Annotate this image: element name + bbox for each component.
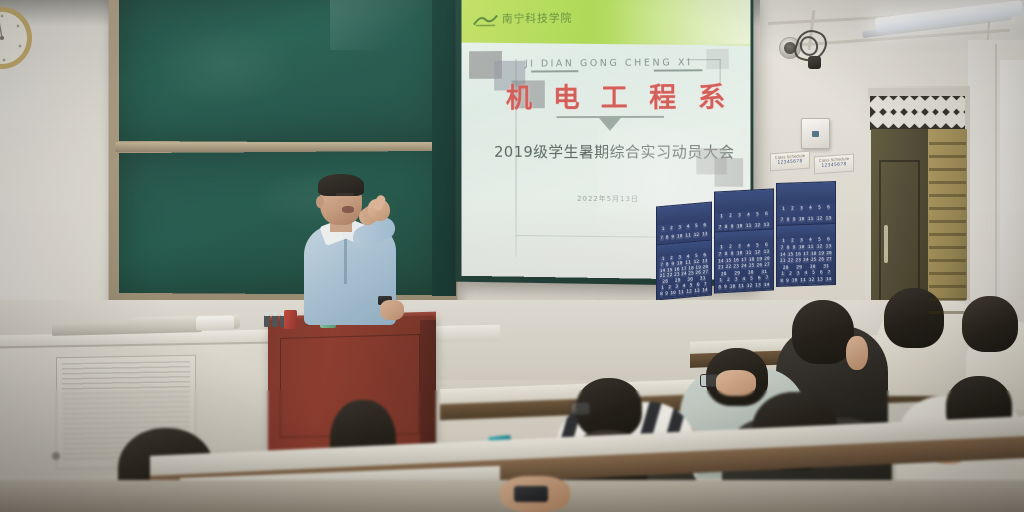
calendar-rows: 1234567891011121314151617181920212223242… — [779, 237, 833, 284]
panel-indicator — [812, 131, 819, 137]
calendar-day: 9 — [724, 285, 728, 290]
calendar-day: 12 — [816, 216, 822, 221]
board-glare — [330, 0, 440, 50]
wall-calendar-group: 1234567891011121314151617181920212223242… — [656, 168, 846, 298]
calendar-row: 891011121314 — [717, 282, 771, 290]
presenter-mouth — [342, 206, 354, 213]
student-head — [792, 300, 854, 364]
door-handle-icon[interactable] — [884, 225, 888, 263]
transom-grille-icon — [870, 96, 965, 130]
calendar-day: 9 — [792, 245, 796, 250]
calendar-day: 2 — [789, 272, 793, 277]
presenter-brow — [336, 193, 354, 196]
calendar-day: 7 — [780, 217, 784, 222]
calendar-day: 28 — [783, 265, 789, 270]
chalkboard-right-edge — [432, 0, 456, 296]
calendar-day: 13 — [825, 244, 831, 249]
door-slat — [929, 220, 966, 223]
calendar-day: 4 — [809, 206, 813, 211]
calendar-day: 11 — [685, 233, 691, 239]
calendar-day: 5 — [689, 283, 693, 288]
calendar-row: 123456 — [717, 210, 771, 221]
student-hand — [846, 336, 868, 370]
presenter-hand-on-lectern — [380, 300, 404, 320]
calendar-day: 25 — [810, 258, 816, 263]
calendar-day: 24 — [803, 258, 809, 263]
presenter-ear — [316, 196, 324, 208]
calendar-day: 11 — [745, 251, 751, 256]
calendar-day: 18 — [748, 257, 754, 262]
calendar-day: 8 — [724, 225, 728, 230]
calendar-day: 10 — [798, 245, 804, 250]
calendar-day: 22 — [725, 265, 731, 270]
calendar-day: 8 — [665, 262, 669, 267]
calendar-day: 2 — [791, 206, 795, 211]
calendar-day: 9 — [786, 278, 790, 283]
student-head — [884, 288, 944, 348]
calendar-day: 9 — [671, 235, 675, 240]
calendar-day: 20 — [764, 256, 770, 261]
calendar-day: 11 — [738, 284, 744, 289]
calendar-day: 3 — [678, 225, 682, 230]
calendar-day: 8 — [660, 292, 664, 297]
calendar-day: 2 — [670, 256, 674, 261]
calendar-day: 13 — [702, 259, 708, 265]
school-logo-icon — [473, 12, 498, 28]
calendar-day: 3 — [800, 206, 804, 211]
calendar-day: 7 — [718, 225, 722, 230]
calendar-day: 10 — [798, 217, 804, 222]
calendar-day: 6 — [765, 243, 769, 248]
calendar-day: 9 — [792, 217, 796, 222]
calendar-day: 2 — [668, 285, 672, 290]
calendar-day: 27 — [702, 270, 708, 276]
calendar-day: 5 — [812, 271, 816, 276]
calendar-day: 31 — [823, 264, 829, 269]
calendar-day: 13 — [755, 283, 761, 288]
calendar-day: 27 — [826, 257, 832, 262]
calendar-day: 3 — [734, 277, 738, 282]
calendar-day: 3 — [675, 285, 679, 290]
shirt-placket — [344, 232, 347, 284]
school-name-label: 南宁科技学院 — [502, 9, 600, 28]
calendar-header — [777, 182, 835, 205]
calendar-day: 4 — [809, 238, 813, 243]
calendar-day: 2 — [729, 214, 733, 219]
calendar-day: 4 — [804, 271, 808, 276]
calendar-day: 2 — [791, 239, 795, 244]
calendar-day: 20 — [826, 251, 832, 256]
door-slat — [929, 168, 966, 171]
slide-title: 机 电 工 程 系 — [506, 75, 715, 115]
calendar-day: 30 — [748, 270, 754, 275]
calendar-day: 7 — [660, 236, 664, 241]
wall-calendar: 1234567891011121314151617181920212223242… — [714, 228, 774, 293]
calendar-day: 14 — [825, 277, 831, 282]
calendar-day: 6 — [827, 205, 831, 210]
calendar-day: 6 — [703, 253, 707, 258]
calendar-day: 11 — [807, 245, 813, 250]
calendar-day: 29 — [734, 271, 740, 276]
calendar-day: 13 — [817, 277, 823, 282]
calendar-day: 19 — [818, 251, 824, 256]
calendar-day: 11 — [745, 223, 751, 228]
student-face — [716, 370, 756, 396]
calendar-day: 6 — [696, 283, 700, 288]
calendar-day: 16 — [795, 252, 801, 257]
calendar-day: 1 — [782, 207, 786, 212]
calendar-day: 12 — [746, 283, 752, 288]
calendar-day: 12 — [686, 289, 692, 295]
camera-icon — [808, 56, 821, 69]
wall-clock — [0, 4, 38, 74]
calendar-day: 6 — [765, 212, 769, 217]
calendar-day: 5 — [695, 254, 699, 259]
calendar-day: 11 — [800, 278, 806, 283]
slide-pinyin: JI DIAN GONG CHENG XI — [519, 57, 698, 69]
calendar-day: 23 — [795, 258, 801, 263]
door-slat — [929, 272, 966, 275]
calendar-day: 10 — [676, 234, 682, 240]
calendar-day: 8 — [718, 285, 722, 290]
student-glasses-icon — [570, 402, 590, 415]
calendar-day: 1 — [719, 278, 723, 283]
calendar-day: 24 — [741, 264, 747, 269]
calendar-day: 25 — [688, 271, 694, 277]
calendar-day: 7 — [780, 246, 784, 251]
chalk-smudge — [150, 20, 300, 110]
door-slat — [929, 259, 966, 262]
calendar-day: 23 — [733, 264, 739, 269]
calendar-day: 26 — [818, 257, 824, 262]
calendar-day: 4 — [686, 224, 690, 229]
wall-seam — [995, 44, 997, 334]
calendar-day: 5 — [756, 213, 760, 218]
calendar-day: 6 — [758, 276, 762, 281]
door-slat — [929, 181, 966, 184]
schedule-tag-numbers: 12345678 — [817, 162, 851, 169]
calendar-day: 31 — [761, 269, 767, 274]
calendar-day: 29 — [675, 279, 681, 285]
calendar-day: 4 — [682, 284, 686, 289]
calendar-day: 3 — [738, 245, 742, 250]
calendar-day: 13 — [702, 232, 708, 238]
calendar-day: 13 — [825, 216, 831, 221]
calendar-day: 17 — [803, 251, 809, 256]
handheld-phone-icon[interactable] — [514, 486, 548, 502]
calendar-day: 8 — [780, 279, 784, 284]
calendar-day: 27 — [764, 263, 770, 268]
calendar-rows: 1234567891011121314151617181920212223242… — [659, 253, 709, 297]
classroom-photo: 南宁科技学院 JI DIAN GONG CHENG XI 机 电 工 程 系 2… — [0, 0, 1024, 512]
calendar-day: 5 — [818, 238, 822, 243]
calendar-day: 3 — [796, 271, 800, 276]
calendar-row: 891011121314 — [779, 277, 833, 284]
calendar-day: 28 — [721, 272, 727, 277]
calendar-day: 7 — [660, 262, 664, 267]
wall-calendar: 1234567891011121314151617181920212223242… — [776, 223, 836, 287]
calendar-day: 5 — [818, 205, 822, 210]
calendar-day: 4 — [742, 277, 746, 282]
calendar-day: 8 — [724, 252, 728, 257]
calendar-day: 14 — [718, 259, 724, 264]
calendar-day: 8 — [786, 217, 790, 222]
calendar-day: 10 — [670, 291, 676, 297]
calendar-day: 10 — [736, 224, 742, 229]
calendar-day: 13 — [763, 250, 769, 255]
calendar-day: 9 — [730, 251, 734, 256]
calendar-day: 2 — [729, 245, 733, 250]
door-slat — [929, 142, 966, 145]
calendar-day: 16 — [733, 258, 739, 263]
calendar-day: 11 — [807, 216, 813, 221]
calendar-day: 12 — [754, 223, 760, 228]
calendar-day: 22 — [787, 258, 793, 263]
calendar-day: 3 — [678, 255, 682, 260]
calendar-day: 3 — [800, 238, 804, 243]
marker-holder — [264, 312, 286, 326]
calendar-day: 18 — [810, 251, 816, 256]
calendar-day: 6 — [827, 238, 831, 243]
slide-header-fade — [608, 0, 750, 46]
calendar-day: 4 — [747, 213, 751, 218]
calendar-day: 12 — [754, 250, 760, 255]
calendar-day: 25 — [748, 263, 754, 268]
calendar-day: 9 — [730, 224, 734, 229]
calendar-day: 5 — [756, 244, 760, 249]
calendar-day: 1 — [781, 272, 785, 277]
calendar-day: 29 — [796, 265, 802, 270]
calendar-day: 5 — [750, 277, 754, 282]
calendar-day: 10 — [676, 261, 682, 267]
calendar-day: 14 — [702, 288, 708, 294]
door-slat — [929, 298, 966, 301]
schedule-tag-numbers: 12345678 — [773, 159, 807, 166]
calendar-day: 15 — [725, 258, 731, 263]
title-rule-right — [654, 69, 702, 71]
calendar-day: 15 — [787, 252, 793, 257]
calendar-day: 12 — [693, 259, 699, 265]
door-slat — [929, 194, 966, 197]
calendar-day: 3 — [738, 214, 742, 219]
schedule-tag: Class Schedule12345678 — [770, 151, 810, 172]
calendar-day: 21 — [718, 265, 724, 270]
calendar-rows: 1234567891011121314151617181920212223242… — [717, 243, 771, 291]
calendar-day: 11 — [685, 260, 691, 266]
calendar-day: 1 — [720, 215, 724, 220]
calendar-day: 8 — [786, 245, 790, 250]
calendar-day: 21 — [780, 259, 786, 264]
calendar-day: 6 — [703, 223, 707, 228]
calendar-day: 22 — [666, 273, 672, 279]
calendar-day: 12 — [693, 233, 699, 239]
lectern-side — [420, 320, 436, 448]
calendar-day: 9 — [665, 291, 669, 296]
door-slat — [929, 207, 966, 210]
calendar-day: 17 — [741, 257, 747, 262]
calendar-day: 30 — [810, 264, 816, 269]
calendar-day: 7 — [704, 282, 708, 287]
calendar-day: 13 — [694, 289, 700, 295]
schedule-tag-group: Class Schedule12345678Class Schedule1234… — [770, 152, 860, 174]
calendar-day: 2 — [727, 278, 731, 283]
calendar-day: 12 — [816, 244, 822, 249]
calendar-day: 1 — [661, 286, 665, 291]
calendar-day: 10 — [791, 278, 797, 283]
calendar-day: 5 — [695, 224, 699, 229]
calendar-day: 7 — [718, 252, 722, 257]
calendar-day: 10 — [729, 284, 735, 289]
calendar-day: 9 — [671, 261, 675, 266]
calendar-row: 123456 — [779, 203, 833, 214]
calendar-day: 7 — [827, 270, 831, 275]
calendar-day: 1 — [661, 256, 665, 261]
calendar-day: 7 — [765, 276, 769, 281]
calendar-day: 14 — [780, 252, 786, 257]
calendar-day: 13 — [763, 223, 769, 228]
door-slat — [929, 155, 966, 158]
calendar-day: 14 — [763, 282, 769, 287]
white-device — [196, 316, 234, 331]
calendar-day: 1 — [661, 226, 665, 231]
calendar-day: 4 — [747, 244, 751, 249]
calendar-day: 24 — [681, 272, 687, 278]
calendar-day: 8 — [665, 235, 669, 240]
calendar-day: 11 — [678, 290, 684, 296]
door-slat — [929, 311, 966, 314]
calendar-day: 4 — [686, 254, 690, 259]
calendar-day: 26 — [756, 263, 762, 268]
title-rule-left — [531, 70, 578, 72]
cabinet-knob-icon[interactable] — [52, 452, 60, 460]
door-slat — [929, 246, 966, 249]
schedule-tag: Class Schedule12345678 — [814, 154, 854, 175]
calendar-day: 10 — [736, 251, 742, 256]
calendar-day: 1 — [782, 239, 786, 244]
red-cup — [284, 310, 297, 329]
calendar-day: 12 — [808, 277, 814, 282]
calendar-day: 1 — [720, 245, 724, 250]
calendar-day: 6 — [820, 271, 824, 276]
student-head — [962, 296, 1018, 352]
window-curtain — [1000, 60, 1024, 330]
wall-calendar: 1234567891011121314151617181920212223242… — [656, 240, 712, 301]
door-slat — [929, 285, 966, 288]
calendar-day: 19 — [756, 257, 762, 262]
calendar-day: 2 — [670, 226, 674, 231]
door-slat — [929, 233, 966, 236]
